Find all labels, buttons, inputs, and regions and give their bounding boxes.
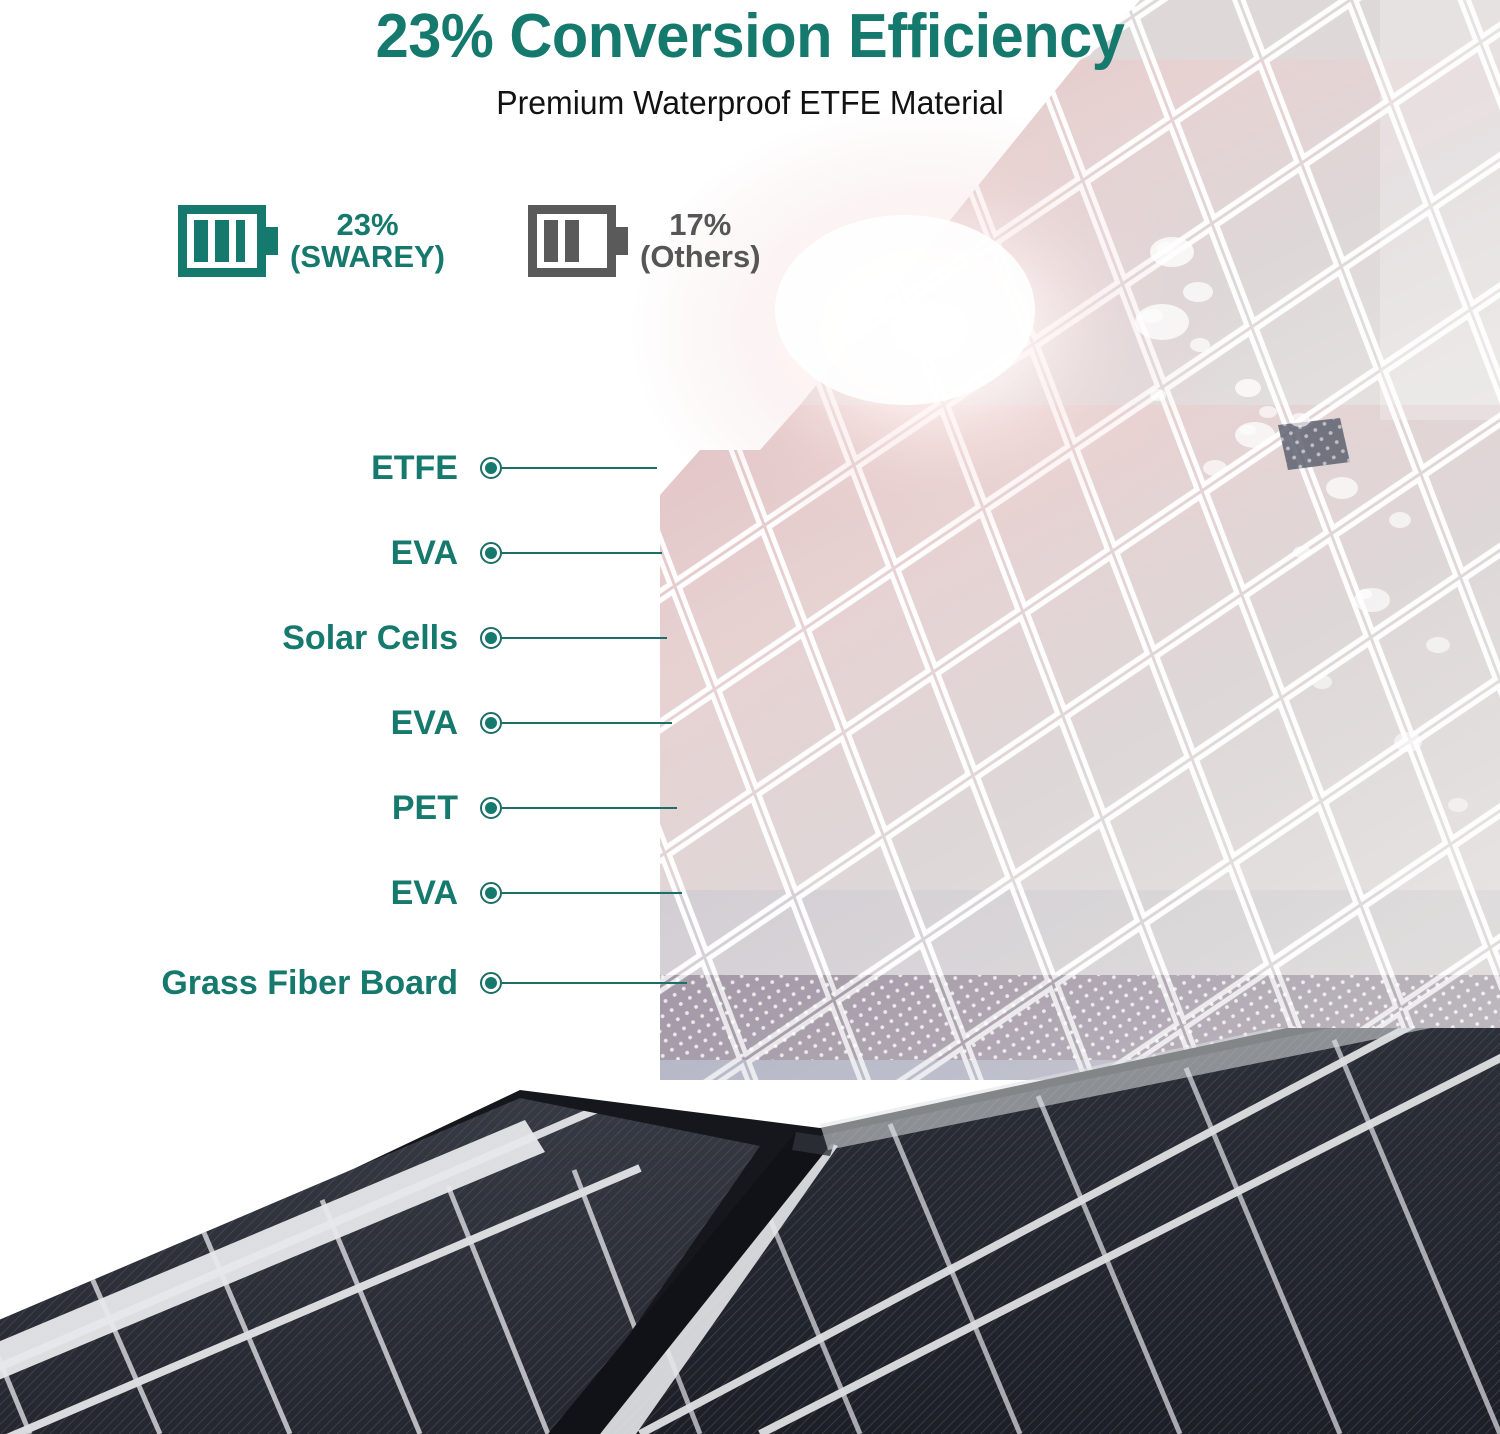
layer-leader-line <box>502 722 672 724</box>
battery-full-icon <box>178 205 266 277</box>
layer-bullet-icon <box>480 457 502 479</box>
comparison-item-brand: 23% (SWAREY) <box>178 205 445 277</box>
layer-leader-line <box>502 892 682 894</box>
layer-bullet-core <box>485 887 497 899</box>
layer-callout: EVA <box>60 870 682 916</box>
layer-callout: EVA <box>60 530 662 576</box>
layer-label: Grass Fiber Board <box>60 960 480 1006</box>
layer-callout: PET <box>60 785 677 831</box>
others-percent: 17% <box>640 209 761 241</box>
comparison-item-others: 17% (Others) <box>528 205 761 277</box>
others-efficiency-text: 17% (Others) <box>640 209 761 272</box>
layer-leader-line <box>502 807 677 809</box>
brand-name: (SWAREY) <box>290 241 445 273</box>
layer-bullet-core <box>485 717 497 729</box>
layer-leader-line <box>502 467 657 469</box>
layer-bullet-icon <box>480 797 502 819</box>
layer-bullet-core <box>485 977 497 989</box>
infographic-canvas: 23% Conversion Efficiency Premium Waterp… <box>0 0 1500 1434</box>
layer-label: EVA <box>60 530 480 576</box>
layer-bullet-icon <box>480 542 502 564</box>
layer-label: ETFE <box>60 445 480 491</box>
layer-label: EVA <box>60 700 480 746</box>
others-name: (Others) <box>640 241 761 273</box>
layer-bullet-icon <box>480 627 502 649</box>
layer-callout: Solar Cells <box>60 615 667 661</box>
layer-label: Solar Cells <box>60 615 480 661</box>
layer-callout: ETFE <box>60 445 657 491</box>
layer-callout: Grass Fiber Board <box>60 960 687 1006</box>
layer-bullet-icon <box>480 712 502 734</box>
layer-bullet-core <box>485 462 497 474</box>
efficiency-comparison: 23% (SWAREY) 17% (Others) <box>0 205 1500 315</box>
header: 23% Conversion Efficiency Premium Waterp… <box>0 0 1500 119</box>
layer-leader-line <box>502 982 687 984</box>
brand-percent: 23% <box>290 209 445 241</box>
page-subtitle: Premium Waterproof ETFE Material <box>23 68 1478 119</box>
layer-callout: EVA <box>60 700 672 746</box>
layer-label: PET <box>60 785 480 831</box>
layer-bullet-core <box>485 547 497 559</box>
layer-leader-line <box>502 637 667 639</box>
layer-leader-line <box>502 552 662 554</box>
layer-bullet-core <box>485 632 497 644</box>
layer-bullet-icon <box>480 972 502 994</box>
layer-bullet-core <box>485 802 497 814</box>
battery-half-icon <box>528 205 616 277</box>
layer-bullet-icon <box>480 882 502 904</box>
layer-label: EVA <box>60 870 480 916</box>
brand-efficiency-text: 23% (SWAREY) <box>290 209 445 272</box>
page-title: 23% Conversion Efficiency <box>30 0 1470 68</box>
